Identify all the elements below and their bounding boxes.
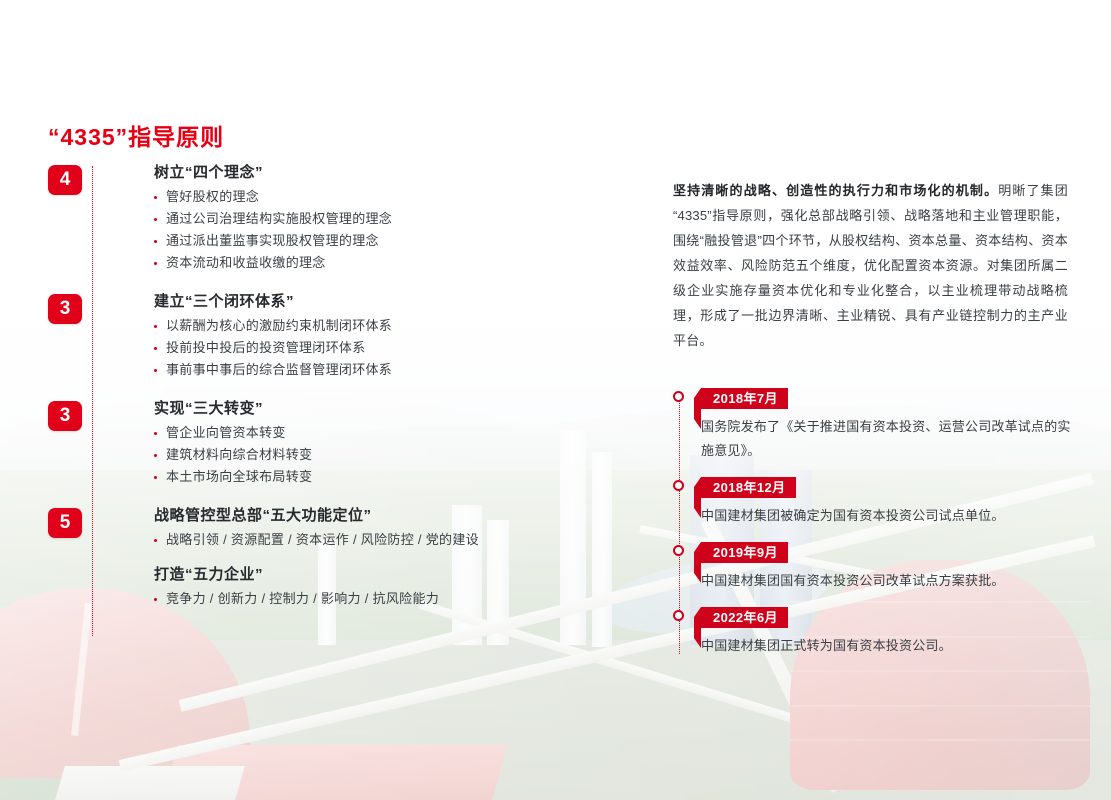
summary-body: 明晰了集团“4335”指导原则，强化总部战略引领、战略落地和主业管理职能，围绕“… (673, 183, 1068, 348)
timeline-item: 2018年12月 中国建材集团被确定为国有资本投资公司试点单位。 (673, 477, 1073, 528)
principle-heading: 树立“四个理念” (154, 163, 608, 183)
principle-badge: 4 (48, 165, 82, 195)
principle-item: 资本流动和收益收缴的理念 (154, 252, 608, 274)
timeline-date-flag: 2022年6月 (701, 607, 788, 628)
timeline-description: 中国建材集团被确定为国有资本投资公司试点单位。 (701, 504, 1073, 528)
principle-badge: 5 (48, 508, 82, 538)
principle-item: 本土市场向全球布局转变 (154, 466, 608, 488)
principle-block: 3 建立“三个闭环体系” 以薪酬为核心的激励约束机制闭环体系 投前投中投后的投资… (48, 292, 608, 381)
page-title: “4335”指导原则 (48, 118, 224, 152)
principle-block: 3 实现“三大转变” 管企业向管资本转变 建筑材料向综合材料转变 本土市场向全球… (48, 399, 608, 488)
timeline-marker-icon (673, 391, 684, 402)
principle-sub-heading: 打造“五力企业” (154, 565, 608, 585)
timeline-marker-icon (673, 545, 684, 556)
principle-item: 建筑材料向综合材料转变 (154, 444, 608, 466)
timeline-date-flag: 2019年9月 (701, 542, 788, 563)
timeline-item: 2022年6月 中国建材集团正式转为国有资本投资公司。 (673, 607, 1073, 658)
principle-block: 4 树立“四个理念” 管好股权的理念 通过公司治理结构实施股权管理的理念 通过派… (48, 163, 608, 274)
summary-column: 坚持清晰的战略、创造性的执行力和市场化的机制。明晰了集团“4335”指导原则，强… (673, 165, 1068, 366)
timeline-marker-icon (673, 610, 684, 621)
left-column-dotted-divider (92, 166, 93, 636)
summary-lead: 坚持清晰的战略、创造性的执行力和市场化的机制。 (673, 183, 998, 198)
principle-item: 投前投中投后的投资管理闭环体系 (154, 337, 608, 359)
principle-item: 管企业向管资本转变 (154, 422, 608, 444)
timeline-description: 国务院发布了《关于推进国有资本投资、运营公司改革试点的实施意见》。 (701, 415, 1073, 463)
principle-item: 通过派出董监事实现股权管理的理念 (154, 230, 608, 252)
timeline: 2018年7月 国务院发布了《关于推进国有资本投资、运营公司改革试点的实施意见》… (673, 388, 1073, 672)
principle-badge: 3 (48, 294, 82, 324)
timeline-date-flag: 2018年12月 (701, 477, 796, 498)
timeline-marker-icon (673, 480, 684, 491)
principle-badge: 3 (48, 401, 82, 431)
principle-heading: 实现“三大转变” (154, 399, 608, 419)
principle-item: 事前事中事后的综合监督管理闭环体系 (154, 359, 608, 381)
principle-block: 5 战略管控型总部“五大功能定位” 战略引领 / 资源配置 / 资本运作 / 风… (48, 506, 608, 610)
principle-heading: 战略管控型总部“五大功能定位” (154, 506, 608, 526)
principle-item: 管好股权的理念 (154, 186, 608, 208)
principle-sub-item: 竞争力 / 创新力 / 控制力 / 影响力 / 抗风险能力 (154, 588, 608, 610)
timeline-item: 2019年9月 中国建材集团国有资本投资公司改革试点方案获批。 (673, 542, 1073, 593)
timeline-description: 中国建材集团正式转为国有资本投资公司。 (701, 634, 1073, 658)
summary-paragraph: 坚持清晰的战略、创造性的执行力和市场化的机制。明晰了集团“4335”指导原则，强… (673, 178, 1068, 353)
principle-item: 通过公司治理结构实施股权管理的理念 (154, 208, 608, 230)
principles-column: 4 树立“四个理念” 管好股权的理念 通过公司治理结构实施股权管理的理念 通过派… (48, 163, 608, 610)
principle-item: 以薪酬为核心的激励约束机制闭环体系 (154, 315, 608, 337)
principle-heading: 建立“三个闭环体系” (154, 292, 608, 312)
timeline-date-flag: 2018年7月 (701, 388, 788, 409)
principle-item: 战略引领 / 资源配置 / 资本运作 / 风险防控 / 党的建设 (154, 529, 608, 551)
timeline-description: 中国建材集团国有资本投资公司改革试点方案获批。 (701, 569, 1073, 593)
timeline-item: 2018年7月 国务院发布了《关于推进国有资本投资、运营公司改革试点的实施意见》… (673, 388, 1073, 463)
